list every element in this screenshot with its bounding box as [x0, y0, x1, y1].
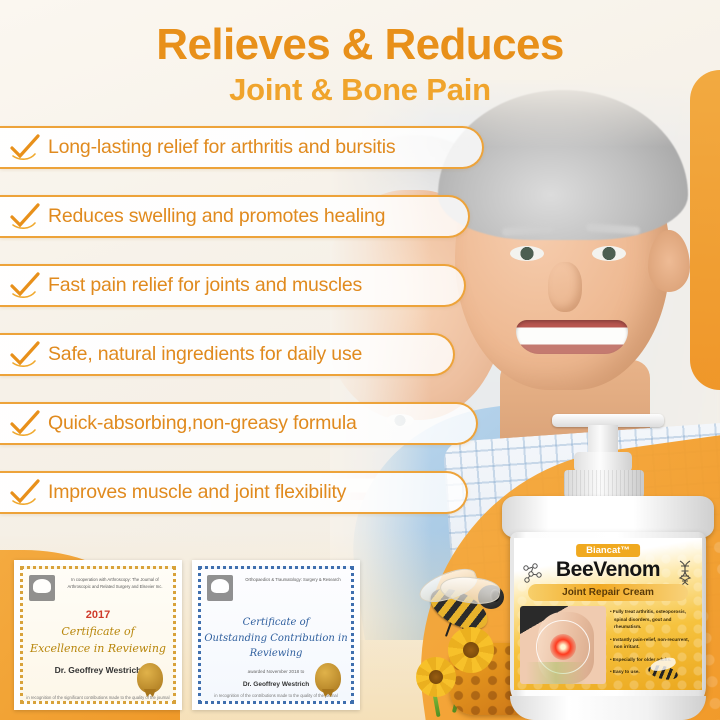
brand-name: Biancat™ [576, 544, 640, 557]
benefit-label: Reduces swelling and promotes healing [48, 205, 385, 228]
certificate-header-text: Orthopaedics & Traumatology: Surgery & R… [241, 577, 345, 584]
certificate-title-line2: Excellence in Reviewing [23, 641, 173, 658]
benefit-label: Fast pain relief for joints and muscles [48, 274, 362, 297]
certificate-header-text: In cooperation with Arthroscopy: The Jou… [63, 577, 167, 590]
certificate-excellence-in-reviewing: In cooperation with Arthroscopy: The Jou… [14, 560, 182, 710]
knee-joint-pain-image [520, 606, 606, 684]
benefit-item-3: Fast pain relief for joints and muscles [0, 264, 466, 307]
certificate-title-line2: Outstanding Contribution in Reviewing [201, 631, 351, 662]
benefits-list: Long-lasting relief for arthritis and bu… [0, 126, 520, 540]
elsevier-logo-icon [207, 575, 233, 601]
pump-collar [574, 452, 632, 472]
product-name: BeeVenom [514, 558, 702, 582]
benefit-item-1: Long-lasting relief for arthritis and bu… [0, 126, 484, 169]
certificate-title: Certificate of Outstanding Contribution … [201, 615, 351, 662]
sunflower [416, 657, 456, 697]
certificate-title: Certificate of Excellence in Reviewing [23, 624, 173, 657]
bee-icon [640, 660, 684, 682]
advertisement-canvas: Relieves & Reduces Joint & Bone Pain Lon… [0, 0, 720, 720]
certificate-outstanding-contribution: Orthopaedics & Traumatology: Surgery & R… [192, 560, 360, 710]
benefit-item-5: Quick-absorbing,non-greasy formula [0, 402, 478, 445]
product-feature: Instantly pain-relief, non-recurrent, no… [610, 636, 697, 651]
check-icon [8, 340, 42, 370]
certificates-row: In cooperation with Arthroscopy: The Jou… [14, 560, 360, 710]
elsevier-logo-icon [29, 575, 55, 601]
right-orange-bar [690, 70, 720, 390]
benefit-label: Quick-absorbing,non-greasy formula [48, 412, 357, 435]
certificate-seal-icon [137, 663, 163, 693]
benefit-item-4: Safe, natural ingredients for daily use [0, 333, 455, 376]
certificate-title-line1: Certificate of [201, 615, 351, 631]
certificate-title-line1: Certificate of [23, 624, 173, 641]
benefit-item-6: Improves muscle and joint flexibility [0, 471, 468, 514]
certificate-seal-icon [315, 663, 341, 693]
benefit-label: Improves muscle and joint flexibility [48, 481, 346, 504]
benefit-item-2: Reduces swelling and promotes healing [0, 195, 470, 238]
check-icon [8, 133, 42, 163]
check-icon [8, 271, 42, 301]
check-icon [8, 409, 42, 439]
benefit-label: Safe, natural ingredients for daily use [48, 343, 362, 366]
check-icon [8, 202, 42, 232]
check-icon [8, 478, 42, 508]
product-tagline: Joint Repair Cream [528, 584, 688, 601]
green-accent [526, 662, 586, 684]
jar-body: Biancat™ BeeVenom Joint Repair Cream Ful… [510, 532, 706, 712]
product-feature: Fully treat arthritis, osteoporosis, spi… [610, 608, 697, 631]
certificate-year: 2017 [23, 609, 173, 621]
jar-base [510, 696, 706, 720]
pump-neck-ribbed [564, 470, 644, 498]
product-label: Biancat™ BeeVenom Joint Repair Cream Ful… [514, 538, 702, 690]
pump-stem [588, 425, 618, 453]
product-jar[interactable]: Biancat™ BeeVenom Joint Repair Cream Ful… [496, 414, 720, 720]
benefit-label: Long-lasting relief for arthritis and bu… [48, 136, 395, 159]
certificate-footer: in recognition of the significant contri… [23, 695, 173, 700]
